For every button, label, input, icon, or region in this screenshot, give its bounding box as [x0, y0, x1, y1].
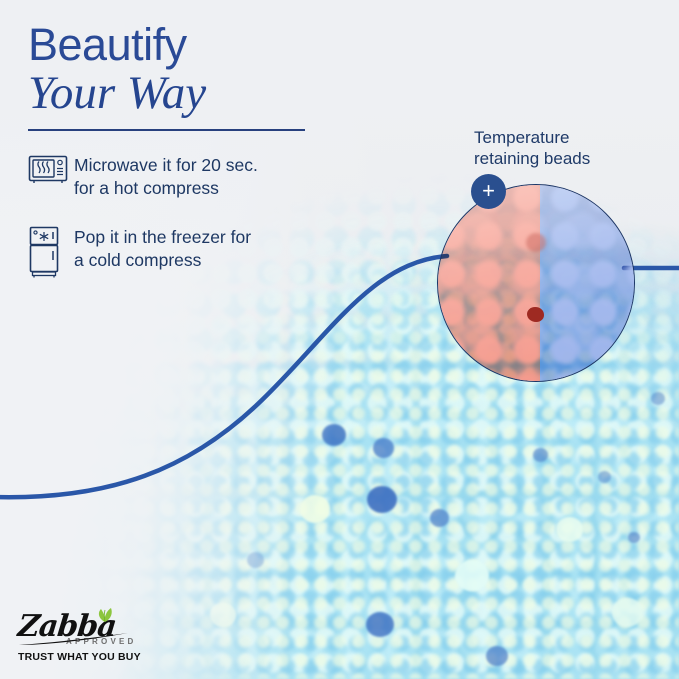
accent-bead	[533, 448, 548, 462]
accent-bead	[598, 471, 611, 483]
feature-item-freezer: Pop it in the freezer for a cold compres…	[28, 224, 358, 283]
hot-half-overlay	[438, 185, 540, 381]
cold-half-overlay	[540, 185, 634, 381]
plus-badge[interactable]: +	[471, 174, 506, 209]
headline-block: Beautify Your Way	[28, 22, 368, 118]
brand-tagline: TRUST WHAT YOU BUY	[18, 651, 188, 663]
highlight-bead	[300, 495, 330, 523]
leaf-icon	[96, 607, 114, 623]
highlight-bead	[612, 598, 643, 627]
accent-bead	[628, 532, 640, 543]
feature-item-microwave: Microwave it for 20 sec. for a hot compr…	[28, 152, 358, 200]
accent-bead	[247, 552, 264, 568]
headline-divider	[28, 129, 305, 131]
highlight-bead	[455, 560, 489, 591]
accent-bead	[486, 646, 508, 666]
freezer-icon	[28, 224, 74, 283]
product-infographic: Beautify Your Way	[0, 0, 679, 679]
accent-bead	[367, 486, 397, 513]
magnified-bead-closeup	[437, 184, 635, 382]
accent-bead	[322, 424, 346, 446]
accent-bead	[373, 438, 394, 458]
brand-swoosh-icon	[18, 632, 130, 646]
pale-bead-speck	[526, 233, 546, 252]
dark-bead-speck	[527, 307, 544, 322]
plus-icon: +	[482, 180, 495, 202]
feature-text-microwave: Microwave it for 20 sec. for a hot compr…	[74, 152, 258, 200]
accent-bead	[366, 612, 394, 637]
microwave-icon	[28, 152, 74, 189]
highlight-bead	[210, 603, 236, 627]
headline-line-1: Beautify	[28, 22, 368, 67]
highlight-bead	[556, 517, 583, 542]
accent-bead	[430, 509, 449, 527]
feature-text-freezer: Pop it in the freezer for a cold compres…	[74, 224, 251, 272]
accent-bead	[651, 392, 665, 405]
feature-list: Microwave it for 20 sec. for a hot compr…	[28, 152, 358, 307]
brand-logo: Zabba APPROVED TRUST WHAT YOU BUY	[18, 610, 188, 663]
callout-label: Temperature retaining beads	[474, 127, 590, 169]
brand-script-wrap: Zabba	[18, 610, 188, 644]
headline-line-2: Your Way	[28, 69, 368, 118]
